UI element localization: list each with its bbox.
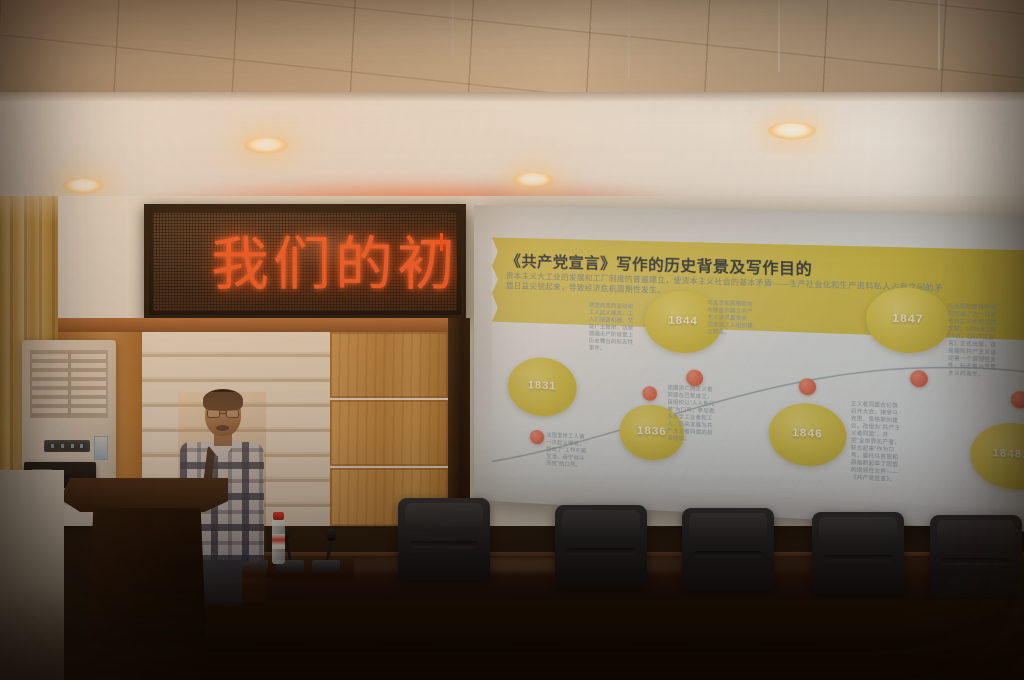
timeline-dot-1836	[642, 386, 657, 401]
year-bubble-1848.2: 1848.2	[970, 421, 1024, 491]
lectern-body	[86, 508, 208, 680]
downlight-1-icon	[62, 178, 104, 194]
water-bottle-label	[272, 534, 285, 549]
downlight-2-icon	[243, 137, 289, 154]
chair-seam	[693, 551, 763, 558]
projection-screen: 《共产党宣言》写作的历史背景及写作目的 资本主义大工业的发展和工厂制度的普遍建立…	[474, 205, 1024, 534]
chair-seam	[941, 558, 1011, 565]
led-banner-text: 我们的初心和	[211, 229, 457, 301]
lectern-top-surface	[60, 478, 228, 512]
ceiling-hanger-rod-2	[628, 0, 630, 78]
event-description-1836: 德国流亡的正义者同盟在巴黎成立，该组织以“人人皆兄弟”为口号，参加者多为手工业者…	[667, 385, 715, 445]
water-bottle-cap	[273, 512, 284, 520]
chair-highlight	[937, 520, 1014, 548]
timeline-dot-1847	[910, 370, 928, 388]
led-cursor-tick	[440, 233, 443, 251]
timeline-dot-1844	[686, 369, 703, 386]
chair-seam	[409, 541, 479, 548]
ceiling-hanger-rod-1	[452, 0, 454, 56]
chair-highlight	[562, 510, 639, 538]
left-foreground-wall	[0, 470, 64, 680]
wood-panel-a	[330, 332, 448, 398]
event-description-1848.2: 马克思和恩格斯共同完成了这一科学社会主义的纲领性文献。1848年2月24日，《共…	[948, 304, 1000, 380]
led-banner: 我们的初心和	[144, 204, 466, 320]
chair-5	[930, 515, 1022, 597]
chair-highlight	[819, 517, 896, 545]
chair-2	[555, 505, 647, 587]
chair-1	[398, 498, 490, 580]
wood-panel-b	[330, 400, 448, 466]
soffit-edge-shadow	[0, 92, 1024, 102]
chair-highlight	[405, 503, 482, 531]
ceiling-tile-grid	[0, 0, 1024, 100]
presentation-slide: 《共产党宣言》写作的历史背景及写作目的 资本主义大工业的发展和工厂制度的普遍建立…	[492, 237, 1024, 512]
event-description-1847: 正义者同盟在伦敦召开大会，接受马克思、恩格斯的建议，改组为“共产主义者同盟”，并…	[851, 401, 901, 484]
downlight-4-icon	[767, 122, 817, 140]
downlight-bulb	[62, 178, 104, 194]
chair-seam	[823, 555, 893, 562]
lecture-hall-photo: 我们的初心和 《共产党宣言》写作的历史背景及写作目的	[0, 0, 1024, 680]
microphone-3-base	[312, 560, 340, 572]
wall-wood-rail	[58, 318, 470, 332]
microphone-3-capsule	[327, 528, 336, 541]
event-description-1831: 法国里昂工人第一次起义爆发，提出了“工作不能生活，毋宁战斗而死”的口号。	[546, 432, 589, 470]
conference-table-front	[180, 600, 1024, 680]
chair-3	[682, 508, 774, 590]
downlight-bulb	[767, 122, 817, 140]
downlight-bulb	[512, 172, 554, 188]
chair-highlight	[689, 513, 766, 541]
year-bubble-1846: 1846	[769, 402, 847, 468]
event-description-1844: 德国西里西亚纺织工人起义爆发，工人们捣毁机器、焚烧厂主账册，这是德国无产阶级登上…	[589, 303, 636, 355]
ceiling-hanger-rod-4	[938, 0, 940, 70]
curtain-top-highlight	[0, 196, 58, 224]
year-bubble-1847: 1847	[866, 286, 950, 354]
timeline-dot-1846	[799, 378, 816, 395]
year-bubble-1831: 1831	[508, 356, 577, 417]
ceiling-hanger-rod-3	[778, 0, 780, 72]
ceiling-shading	[0, 0, 1024, 100]
lectern	[60, 478, 228, 680]
chair-seam	[566, 548, 636, 555]
chair-4	[812, 512, 904, 594]
event-description-1846: 马克思和恩格斯在布鲁塞尔建立共产主义通讯委员会，同各国工人组织建立联系。	[707, 300, 754, 338]
timeline-dot-1831	[530, 430, 544, 445]
downlight-3-icon	[512, 172, 554, 188]
led-panel-surface: 我们的初心和	[153, 213, 457, 311]
downlight-bulb	[243, 137, 289, 154]
wall-pillar-dark	[448, 318, 470, 526]
